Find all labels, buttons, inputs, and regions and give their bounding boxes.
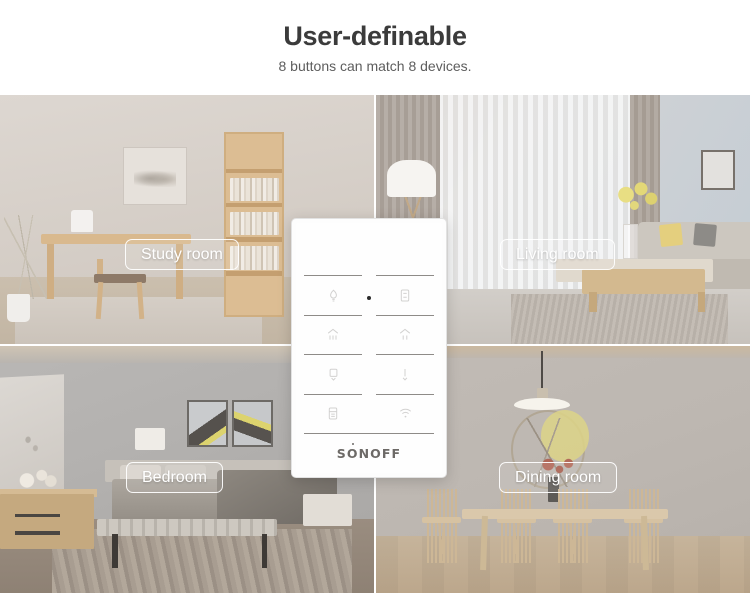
bedside-lamp (135, 428, 165, 450)
bench (97, 519, 277, 536)
bookshelf (224, 132, 284, 316)
device-button-6[interactable] (376, 354, 434, 394)
sonoff-wall-switch-panel: SONOFF (291, 218, 447, 478)
wall-art (701, 150, 735, 190)
room-label-dining[interactable]: Dining room (499, 462, 617, 493)
table-lamp (71, 210, 93, 232)
framed-art-left (187, 400, 228, 447)
device-button-4[interactable] (376, 315, 434, 355)
floor-lamp-shade (387, 160, 436, 197)
product-feature-page: User-definable 8 buttons can match 8 dev… (0, 0, 750, 593)
device-button-2[interactable] (376, 275, 434, 315)
rug (511, 294, 728, 344)
dresser (0, 494, 94, 548)
curtain-close-icon (399, 328, 411, 341)
logo-accent-dot (352, 443, 354, 445)
device-button-5[interactable] (304, 354, 362, 394)
pendant-cord (541, 351, 543, 391)
device-button-3[interactable] (304, 315, 362, 355)
pillow-gray (693, 224, 717, 248)
curtain-open-icon (327, 328, 339, 341)
dresser-handle-top (15, 514, 60, 517)
coffee-table-leg-left (589, 292, 596, 312)
lamp-icon (328, 289, 339, 302)
vase (623, 224, 638, 259)
switch-down-icon (400, 368, 410, 381)
dining-chair (556, 489, 590, 563)
wall-art (123, 147, 187, 204)
panel-face: SONOFF (296, 223, 442, 473)
panel-brand-area: SONOFF (304, 433, 434, 473)
device-button-7[interactable] (304, 394, 362, 434)
plant-icon (11, 460, 63, 495)
room-label-study[interactable]: Study room (125, 239, 239, 270)
dining-chair (425, 489, 459, 563)
nightstand (303, 494, 352, 526)
bench-leg-right (262, 534, 268, 569)
flower-bouquet (608, 180, 668, 230)
page-title: User-definable (283, 23, 466, 50)
button-grid (296, 275, 442, 433)
device-button-8[interactable] (376, 394, 434, 434)
coffee-table-body (582, 269, 705, 294)
plant-pot (7, 294, 29, 321)
socket-icon (400, 289, 410, 302)
room-label-living[interactable]: Living room (500, 239, 615, 270)
coffee-table-leg-right (698, 292, 705, 312)
dining-chair (499, 489, 533, 563)
room-label-bedroom[interactable]: Bedroom (126, 462, 223, 493)
bench-leg-left (112, 534, 118, 569)
led-indicator-dot (367, 296, 371, 300)
wifi-icon (399, 408, 412, 419)
header: User-definable 8 buttons can match 8 dev… (0, 0, 750, 95)
plant-icon (4, 215, 49, 300)
brand-text: SONOFF (337, 446, 401, 461)
dining-table-leg-right (641, 516, 649, 571)
device-button-1[interactable] (304, 275, 362, 315)
dining-table (462, 509, 668, 519)
dresser-handle-bottom (15, 531, 60, 534)
appliance-icon (328, 407, 338, 420)
panel-top-blank (296, 223, 442, 275)
pendant-lamp (514, 398, 570, 410)
desk-leg-left (47, 244, 54, 299)
framed-art-right (232, 400, 273, 447)
rug (52, 529, 351, 593)
sonoff-logo: SONOFF (337, 446, 401, 461)
page-subtitle: 8 buttons can match 8 devices. (279, 59, 472, 73)
light-down-icon (328, 368, 339, 381)
